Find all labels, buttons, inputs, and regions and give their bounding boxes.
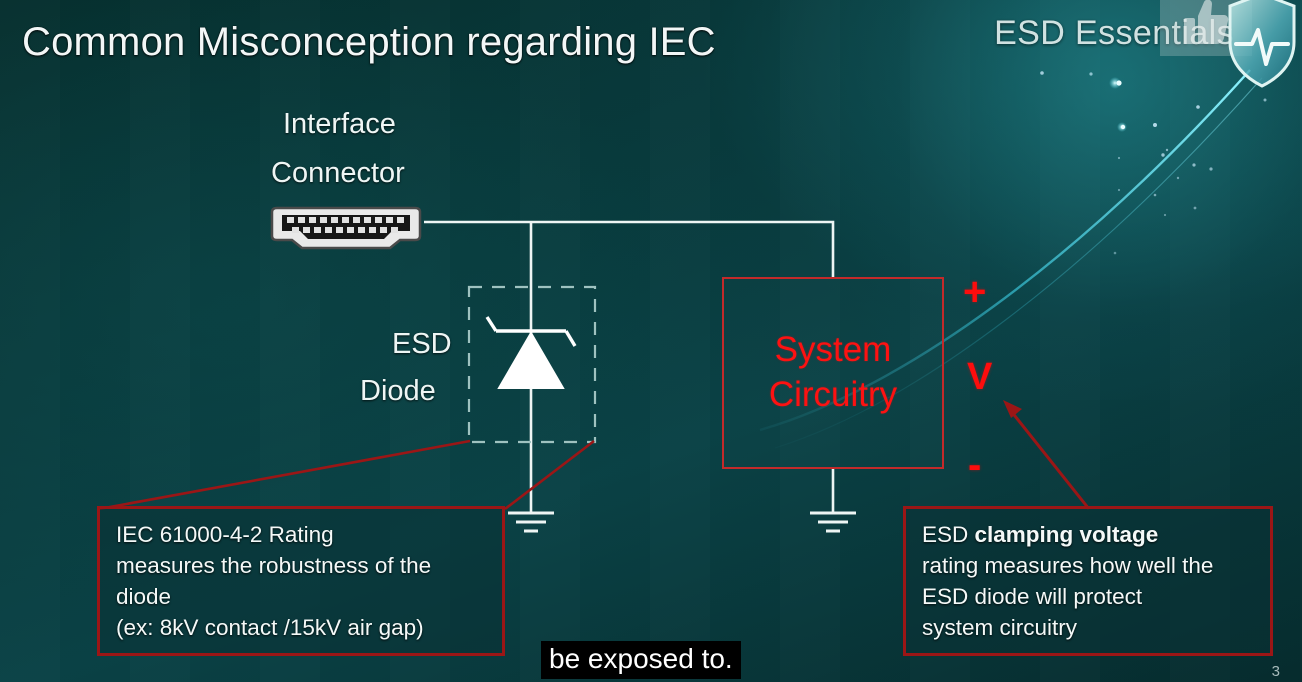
callout-left-line1: IEC 61000-4-2 Rating — [116, 519, 488, 550]
page-number: 3 — [1272, 663, 1280, 680]
callout-right-line1: ESD clamping voltage — [922, 519, 1256, 550]
callout-left: IEC 61000-4-2 Rating measures the robust… — [97, 506, 505, 656]
callout-right-line3: ESD diode will protect — [922, 581, 1256, 612]
polarity-minus-label: - — [968, 445, 981, 485]
ground-symbol-icon — [810, 513, 856, 531]
callout-leader-lines — [99, 441, 594, 509]
slide-canvas: Common Misconception regarding IEC ESD E… — [0, 0, 1302, 682]
subtitle-caption: be exposed to. — [541, 641, 741, 679]
voltage-arrow-icon — [1003, 400, 1089, 509]
system-circuitry-line1: System — [775, 328, 892, 373]
voltage-label: V — [967, 358, 992, 396]
callout-left-line3: diode — [116, 581, 488, 612]
callout-right-line1-prefix: ESD — [922, 522, 975, 547]
system-circuitry-line2: Circuitry — [769, 373, 897, 418]
polarity-plus-label: + — [963, 272, 986, 312]
callout-left-line4: (ex: 8kV contact /15kV air gap) — [116, 612, 488, 643]
callout-right-line4: system circuitry — [922, 612, 1256, 643]
callout-left-line2: measures the robustness of the — [116, 550, 488, 581]
callout-right-line1-bold: clamping voltage — [975, 522, 1159, 547]
system-circuitry-box: System Circuitry — [722, 277, 944, 469]
ground-symbol-icon — [508, 513, 554, 531]
callout-right-line2: rating measures how well the — [922, 550, 1256, 581]
callout-right: ESD clamping voltage rating measures how… — [903, 506, 1273, 656]
